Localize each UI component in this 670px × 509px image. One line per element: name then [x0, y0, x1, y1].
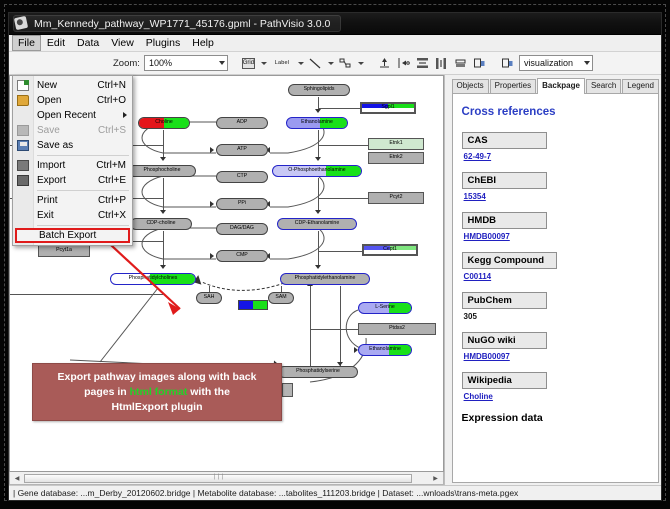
node-phosphatidylethanolamine[interactable]: Phosphatidylethanolamine — [280, 273, 370, 285]
arrowhead-down — [160, 265, 166, 269]
file-menu-accel: Ctrl+E — [98, 175, 126, 186]
gene-pcyt2[interactable]: Pcyt2 — [368, 192, 424, 204]
gene-label: Sgpl1 — [381, 105, 394, 110]
file-menu-separator — [37, 155, 129, 156]
file-menu-label: Import — [37, 160, 65, 171]
import-icon — [17, 160, 29, 171]
node-label: CDP-Ethanolamine — [295, 221, 339, 226]
node-label: Phosphatidylethanolamine — [295, 276, 356, 281]
arrowhead-down — [315, 265, 321, 269]
menubar[interactable]: File Edit Data View Plugins Help — [9, 35, 661, 52]
xref-value-kegg[interactable]: C00114 — [464, 272, 649, 281]
cofactor-loop-ctp-ppi — [130, 175, 230, 209]
visualization-icon-button[interactable] — [500, 56, 515, 71]
arrowhead-right — [210, 147, 214, 153]
gene-ptdss2[interactable]: Ptdss2 — [358, 323, 436, 335]
callout-line2-highlight: html format — [130, 386, 188, 398]
file-menu-label: Print — [37, 195, 58, 206]
zoom-value: 100% — [149, 58, 172, 68]
node-ethanolamine-bottom[interactable]: Ethanolamine — [358, 344, 412, 356]
file-menu-label: Save — [37, 125, 60, 136]
node-ctp[interactable]: CTP — [216, 171, 268, 183]
gene-etnk2[interactable]: Etnk2 — [368, 152, 424, 164]
file-menu-label: Open — [37, 95, 61, 106]
node-phosphatidylserine[interactable]: Phosphatidylserine — [278, 366, 358, 378]
xref-db-hmdb: HMDB — [462, 212, 547, 229]
label-icon: Label — [275, 60, 289, 66]
xref-db-pubchem: PubChem — [462, 292, 547, 309]
zoom-combobox[interactable]: 100% — [144, 55, 228, 71]
grid-icon: Grid — [242, 58, 255, 69]
xref-db-chebi: ChEBI — [462, 172, 547, 189]
arrowhead-right — [210, 201, 214, 207]
callout-line2-post: with the — [187, 386, 230, 398]
arrowhead-down — [160, 157, 166, 161]
scrollbar-thumb[interactable] — [24, 474, 412, 483]
pathvisio-application-window: Mm_Kennedy_pathway_WP1771_45176.gpml - P… — [8, 12, 662, 501]
gene-label: Pcyt1a — [56, 248, 72, 253]
file-menu-dropdown[interactable]: New Ctrl+N Open Ctrl+O Open Recent Save … — [12, 75, 133, 246]
menu-edit[interactable]: Edit — [41, 35, 71, 51]
gene-label: Pcyt2 — [390, 195, 403, 200]
open-folder-icon — [17, 95, 29, 106]
node-ethanolamine-top[interactable]: Ethanolamine — [286, 117, 348, 129]
menu-data[interactable]: Data — [71, 35, 105, 51]
callout-line1: Export pathway images along with back — [58, 371, 257, 383]
node-cmp[interactable]: CMP — [216, 250, 268, 262]
edge-to-sgpl1 — [318, 108, 362, 109]
file-menu-item-save-as[interactable]: Save as — [13, 138, 132, 153]
node-atp[interactable]: ATP — [216, 144, 268, 156]
node-o-phosphoethanolamine[interactable]: O-Phosphoethanolamine — [272, 165, 362, 177]
xref-value-cas[interactable]: 62-49-7 — [464, 152, 649, 161]
node-label: L-Serine — [375, 305, 395, 310]
node-phosphocholine[interactable]: Phosphocholine — [128, 165, 196, 177]
file-menu-item-open-recent[interactable]: Open Recent — [13, 108, 132, 123]
file-menu-separator — [37, 190, 129, 191]
node-label: SAM — [275, 295, 286, 300]
align-left-button[interactable] — [396, 56, 411, 71]
backpage-content: Cross references CAS 62-49-7 ChEBI 15354… — [452, 93, 659, 483]
node-label: ATP — [237, 147, 247, 152]
same-width-button[interactable] — [453, 56, 468, 71]
xref-value-pubchem: 305 — [464, 312, 649, 321]
zoom-label: Zoom: — [113, 58, 140, 69]
menu-file[interactable]: File — [12, 35, 41, 51]
interaction-button[interactable] — [338, 56, 353, 71]
node-label: O-Phosphoethanolamine — [288, 168, 345, 173]
file-menu-item-open[interactable]: Open Ctrl+O — [13, 93, 132, 108]
file-menu-accel: Ctrl+N — [97, 80, 126, 91]
visualization-value: visualization — [524, 58, 573, 68]
toolbar: Zoom: 100% Grid Label — [9, 52, 661, 75]
file-menu-item-save: Save Ctrl+S — [13, 123, 132, 138]
node-label: Phosphatidylcholines — [129, 276, 178, 281]
canvas-horizontal-scrollbar[interactable]: ◀ ▶ — [9, 472, 444, 485]
expression-data-heading: Expression data — [462, 412, 649, 424]
align-top-button[interactable] — [377, 56, 392, 71]
annotation-callout: Export pathway images along with back pa… — [32, 363, 282, 421]
label-dropdown-icon[interactable] — [298, 62, 304, 65]
node-l-serine[interactable]: L-Serine — [358, 302, 412, 314]
gene-etnk1[interactable]: Etnk1 — [368, 138, 424, 150]
cofactor-return-3 — [268, 227, 328, 261]
edge-pc-down — [80, 286, 160, 366]
arrowhead-right — [210, 253, 214, 259]
grid-button[interactable]: Grid — [241, 56, 256, 71]
file-menu-item-export[interactable]: Export Ctrl+E — [13, 173, 132, 188]
statusbar: | Gene database: ...m_Derby_20120602.bri… — [9, 485, 661, 500]
xref-db-nugo: NuGO wiki — [462, 332, 547, 349]
node-adp[interactable]: ADP — [216, 117, 268, 129]
gene-label: Etnk1 — [389, 141, 402, 146]
file-menu-accel: Ctrl+X — [98, 210, 126, 221]
node-label: Phosphatidylserine — [296, 369, 340, 374]
menu-plugins[interactable]: Plugins — [140, 35, 186, 51]
node-label: ADP — [237, 120, 248, 125]
node-label: Ethanolamine — [369, 347, 401, 352]
node-phosphatidylcholines[interactable]: Phosphatidylcholines — [110, 273, 196, 285]
distribute-vertical-button[interactable] — [415, 56, 430, 71]
xref-value-nugo[interactable]: HMDB00097 — [464, 352, 649, 361]
tab-search[interactable]: Search — [586, 79, 621, 93]
file-menu-label: Save as — [37, 140, 73, 151]
gene-sgpl1[interactable]: Sgpl1 — [360, 102, 416, 114]
node-label: DAG/DAG — [230, 226, 254, 231]
arrowhead-down — [315, 210, 321, 214]
node-label: CDP-choline — [146, 221, 175, 226]
node-dag[interactable]: DAG/DAG — [216, 223, 268, 235]
node-label: Ethanolamine — [301, 120, 333, 125]
side-panel: Objects Properties Backpage Search Legen… — [445, 75, 661, 500]
new-document-icon — [17, 80, 29, 91]
node-cdp-choline[interactable]: CDP-choline — [130, 218, 192, 230]
xref-db-cas: CAS — [462, 132, 547, 149]
file-menu-accel: Ctrl+M — [96, 160, 126, 171]
screen-background: Mm_Kennedy_pathway_WP1771_45176.gpml - P… — [0, 0, 670, 509]
gene-label: Etnk2 — [389, 155, 402, 160]
window-title: Mm_Kennedy_pathway_WP1771_45176.gpml - P… — [13, 15, 341, 32]
line-button[interactable] — [308, 56, 323, 71]
gene-label: Cept1 — [383, 247, 397, 252]
node-sam[interactable]: SAM — [268, 292, 294, 304]
node-sphingolipids[interactable]: Sphingolipids — [288, 84, 350, 96]
node-label: Choline — [155, 120, 173, 125]
scroll-right-icon[interactable]: ▶ — [430, 473, 442, 484]
arrowhead-down — [315, 157, 321, 161]
chevron-down-icon — [584, 61, 590, 65]
gene-cept1[interactable]: Cept1 — [362, 244, 418, 256]
tab-properties[interactable]: Properties — [490, 79, 536, 93]
callout-text: Export pathway images along with back pa… — [58, 370, 257, 415]
xref-db-wikipedia: Wikipedia — [462, 372, 547, 389]
scroll-left-icon[interactable]: ◀ — [11, 473, 23, 484]
node-sah[interactable]: SAH — [196, 292, 222, 304]
cross-references-heading: Cross references — [462, 106, 649, 118]
file-menu-label: New — [37, 80, 57, 91]
cofactor-loop-dag-cmp — [130, 227, 230, 261]
callout-line3: HtmlExport plugin — [112, 401, 203, 413]
node-label: Sphingolipids — [304, 87, 335, 92]
file-menu-item-import[interactable]: Import Ctrl+M — [13, 158, 132, 173]
interaction-dropdown-icon[interactable] — [358, 62, 364, 65]
menu-help[interactable]: Help — [186, 35, 220, 51]
tab-legend[interactable]: Legend — [622, 79, 659, 93]
file-menu-item-exit[interactable]: Exit Ctrl+X — [13, 208, 132, 223]
expression-chip[interactable] — [238, 300, 268, 310]
gene-pcyt1a[interactable]: Pcyt1a — [38, 245, 90, 257]
xref-value-wikipedia[interactable]: Choline — [464, 392, 649, 401]
file-menu-accel: Ctrl+P — [98, 195, 126, 206]
file-menu-item-batch-export[interactable]: Batch Export — [15, 228, 130, 243]
save-disk-icon — [17, 125, 29, 136]
file-menu-separator — [37, 225, 129, 226]
node-cdp-ethanolamine[interactable]: CDP-Ethanolamine — [277, 218, 357, 230]
file-menu-accel: Ctrl+O — [97, 95, 126, 106]
file-menu-item-print[interactable]: Print Ctrl+P — [13, 193, 132, 208]
node-label: SAH — [204, 295, 215, 300]
side-panel-tabs[interactable]: Objects Properties Backpage Search Legen… — [448, 78, 659, 93]
arrowhead-down — [315, 109, 321, 113]
node-label: PPi — [238, 201, 246, 206]
xref-db-kegg: Kegg Compound — [462, 252, 557, 269]
arrowhead-down — [160, 210, 166, 214]
node-label: CTP — [237, 174, 247, 179]
save-as-icon — [17, 140, 29, 151]
chevron-down-icon — [219, 61, 225, 65]
bring-front-button[interactable] — [472, 56, 487, 71]
distribute-horizontal-button[interactable] — [434, 56, 449, 71]
line-dropdown-icon[interactable] — [328, 62, 334, 65]
file-menu-label: Export — [37, 175, 66, 186]
tab-objects[interactable]: Objects — [452, 79, 489, 93]
node-label: Phosphocholine — [144, 168, 181, 173]
file-menu-accel: Ctrl+S — [98, 125, 126, 136]
visualization-combobox[interactable]: visualization — [519, 55, 593, 71]
statusbar-text: | Gene database: ...m_Derby_20120602.bri… — [13, 488, 518, 498]
chevron-right-icon — [123, 112, 127, 118]
menu-view[interactable]: View — [105, 35, 140, 51]
xref-value-hmdb[interactable]: HMDB00097 — [464, 232, 649, 241]
cofactor-return-2 — [268, 175, 328, 209]
node-ppi[interactable]: PPi — [216, 198, 268, 210]
file-menu-label: Exit — [37, 210, 54, 221]
export-icon — [17, 175, 29, 186]
node-choline-top[interactable]: Choline — [138, 117, 190, 129]
callout-line2-pre: pages in — [84, 386, 130, 398]
file-menu-label: Open Recent — [37, 110, 96, 121]
window-titlebar: Mm_Kennedy_pathway_WP1771_45176.gpml - P… — [9, 13, 661, 35]
file-menu-item-new[interactable]: New Ctrl+N — [13, 78, 132, 93]
gene-label: Ptdss2 — [389, 326, 405, 331]
tab-backpage[interactable]: Backpage — [537, 78, 585, 94]
xref-value-chebi[interactable]: 15354 — [464, 192, 649, 201]
node-label: CMP — [236, 253, 248, 258]
callout-tail — [282, 383, 293, 397]
label-button[interactable]: Label — [271, 56, 293, 71]
grid-dropdown-icon[interactable] — [261, 62, 267, 65]
file-menu-label: Batch Export — [39, 230, 96, 241]
